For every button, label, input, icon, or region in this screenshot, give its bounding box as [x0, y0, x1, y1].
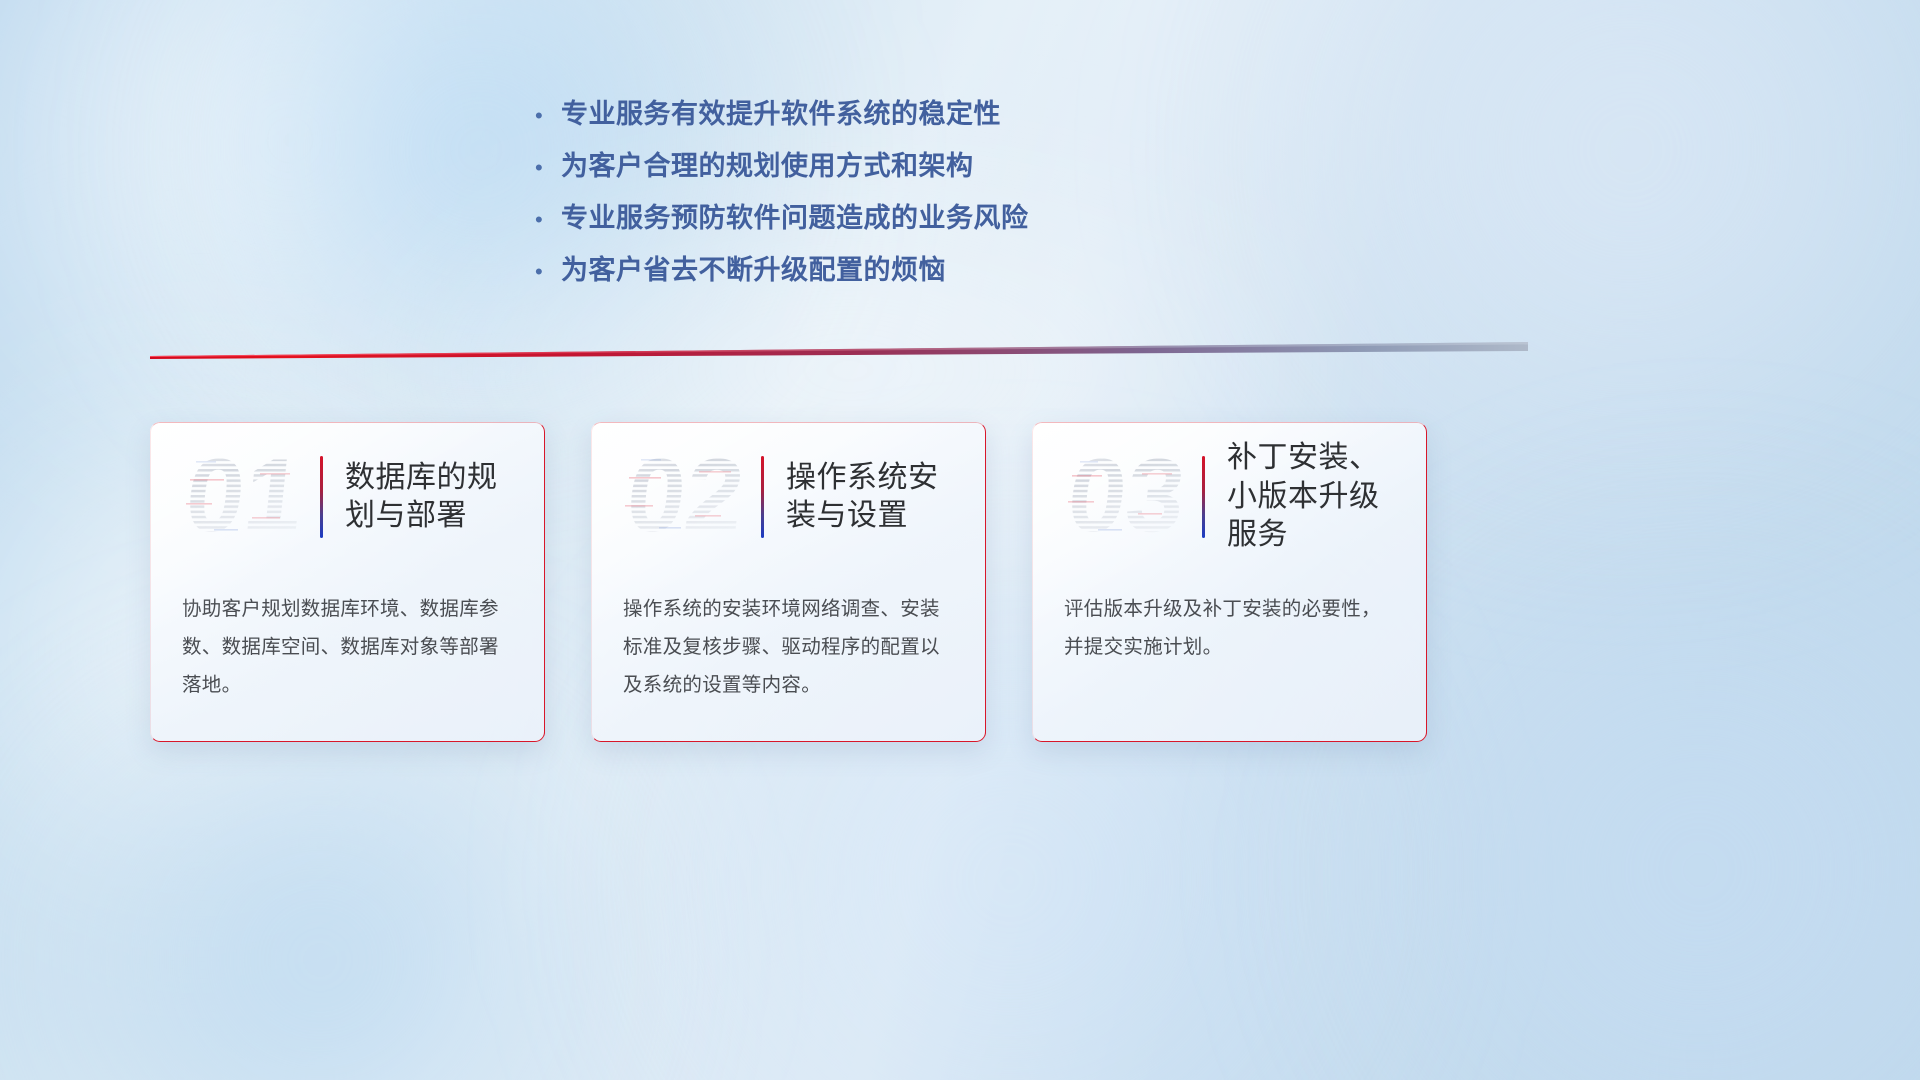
list-item: • 专业服务预防软件问题造成的业务风险 [535, 196, 1295, 248]
bullet-text: 为客户合理的规划使用方式和架构 [561, 144, 974, 183]
service-card[interactable]: 02 操作系统安装与设置 操作系统的安装环境网络调查、安装标准及复核步骤、驱动程… [591, 422, 986, 742]
card-header: 01 数据库的规划与部署 [150, 422, 545, 572]
list-item: • 为客户省去不断升级配置的烦恼 [535, 248, 1295, 300]
card-number-ghost-icon: 02 [615, 443, 755, 551]
card-number-ghost-icon: 01 [174, 443, 314, 551]
svg-text:02: 02 [622, 443, 750, 551]
card-number-ghost-icon: 03 [1056, 443, 1196, 551]
svg-text:01: 01 [181, 443, 309, 551]
card-header: 02 操作系统安装与设置 [591, 422, 986, 572]
service-card[interactable]: 03 补丁安装、小版本升级服务 评估版本升级及补丁安装的必要性，并提交实施计划。 [1032, 422, 1427, 742]
card-body-text: 操作系统的安装环境网络调查、安装标准及复核步骤、驱动程序的配置以及系统的设置等内… [591, 572, 986, 704]
card-title-accent-bar [320, 456, 323, 538]
section-divider [148, 340, 1528, 366]
card-title: 补丁安装、小版本升级服务 [1227, 439, 1409, 554]
card-title: 数据库的规划与部署 [345, 459, 527, 536]
card-header: 03 补丁安装、小版本升级服务 [1032, 422, 1427, 572]
bullet-text: 为客户省去不断升级配置的烦恼 [561, 248, 946, 287]
card-body-text: 协助客户规划数据库环境、数据库参数、数据库空间、数据库对象等部署落地。 [150, 572, 545, 704]
bullet-list: • 专业服务有效提升软件系统的稳定性 • 为客户合理的规划使用方式和架构 • 专… [535, 92, 1295, 300]
service-card-row: 01 数据库的规划与部署 协助客户规划数据库环境、数据库参数、数据库空间、数据库… [150, 422, 1427, 742]
card-title-accent-bar [761, 456, 764, 538]
bullet-text: 专业服务预防软件问题造成的业务风险 [561, 196, 1029, 235]
bullet-text: 专业服务有效提升软件系统的稳定性 [561, 92, 1001, 131]
bullet-dot-icon: • [535, 105, 561, 127]
card-title: 操作系统安装与设置 [786, 459, 968, 536]
bullet-dot-icon: • [535, 209, 561, 231]
bullet-dot-icon: • [535, 261, 561, 283]
list-item: • 为客户合理的规划使用方式和架构 [535, 144, 1295, 196]
card-title-accent-bar [1202, 456, 1205, 538]
bullet-dot-icon: • [535, 157, 561, 179]
service-card[interactable]: 01 数据库的规划与部署 协助客户规划数据库环境、数据库参数、数据库空间、数据库… [150, 422, 545, 742]
list-item: • 专业服务有效提升软件系统的稳定性 [535, 92, 1295, 144]
svg-text:03: 03 [1063, 443, 1191, 551]
card-body-text: 评估版本升级及补丁安装的必要性，并提交实施计划。 [1032, 572, 1427, 666]
